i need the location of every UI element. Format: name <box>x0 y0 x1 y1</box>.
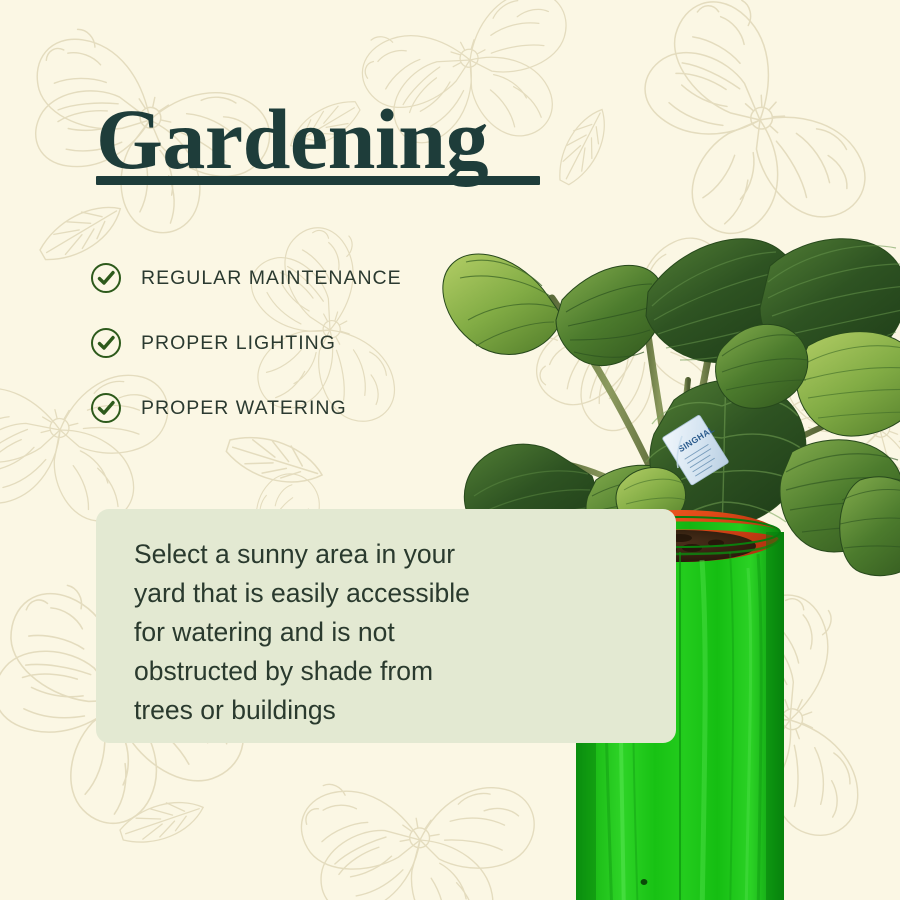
drainage-hole <box>641 879 648 885</box>
tip-card-text: Select a sunny area in your yard that is… <box>134 535 524 730</box>
list-item-label: PROPER WATERING <box>141 397 347 420</box>
poster-canvas: SINGHAL Gardening REGULAR MAINTENANCE <box>0 0 900 900</box>
check-circle-icon <box>90 327 122 359</box>
list-item: REGULAR MAINTENANCE <box>90 261 520 295</box>
list-item: PROPER LIGHTING <box>90 326 520 360</box>
title-text: Gardening <box>96 96 566 182</box>
list-item-label: REGULAR MAINTENANCE <box>141 267 402 290</box>
list-item: PROPER WATERING <box>90 391 520 425</box>
check-circle-icon <box>90 392 122 424</box>
list-item-label: PROPER LIGHTING <box>141 332 336 355</box>
check-circle-icon <box>90 262 122 294</box>
page-title: Gardening <box>96 96 566 185</box>
feature-checklist: REGULAR MAINTENANCE PROPER LIGHTING PROP… <box>90 261 520 456</box>
